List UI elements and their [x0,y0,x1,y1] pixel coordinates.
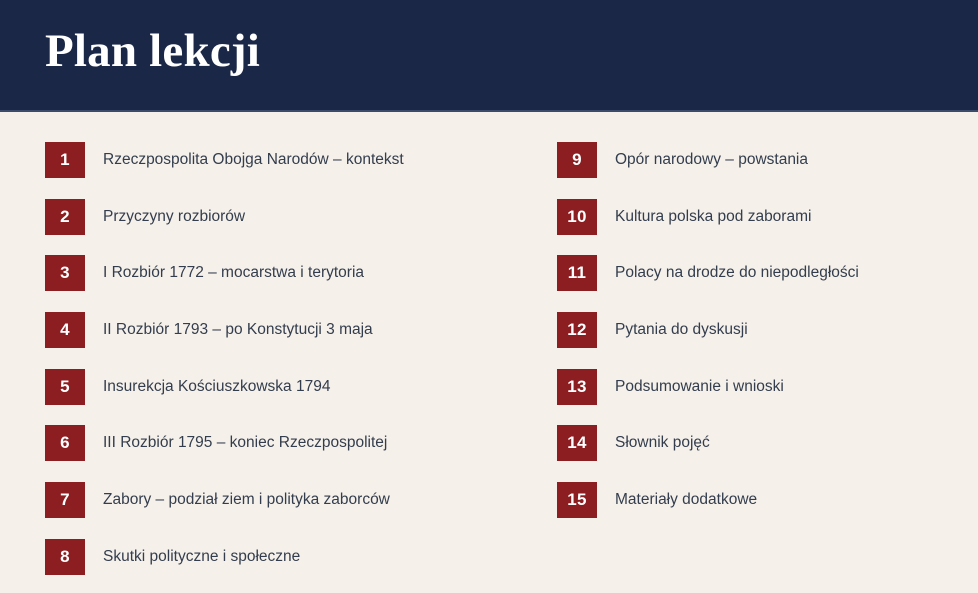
page-title: Plan lekcji [45,20,260,82]
agenda-item[interactable]: 13Podsumowanie i wnioski [557,339,957,396]
agenda-item[interactable]: 2Przyczyny rozbiorów [45,169,515,226]
agenda-item[interactable]: 4II Rozbiór 1793 – po Konstytucji 3 maja [45,282,515,339]
agenda-item[interactable]: 9Opór narodowy – powstania [557,112,957,169]
agenda-item[interactable]: 12Pytania do dyskusji [557,282,957,339]
agenda-item[interactable]: 15Materiały dodatkowe [557,452,957,509]
lesson-plan-slide: Plan lekcji 1Rzeczpospolita Obojga Narod… [0,0,978,593]
agenda-column-left: 1Rzeczpospolita Obojga Narodów – konteks… [45,112,515,566]
agenda-item[interactable]: 7Zabory – podział ziem i polityka zaborc… [45,452,515,509]
agenda-item[interactable]: 6III Rozbiór 1795 – koniec Rzeczpospolit… [45,395,515,452]
agenda-item-number-badge: 15 [557,482,597,518]
slide-header: Plan lekcji [0,0,978,112]
agenda-item[interactable]: 14Słownik pojęć [557,395,957,452]
agenda-column-right: 9Opór narodowy – powstania10Kultura pols… [557,112,957,509]
agenda-list: 1Rzeczpospolita Obojga Narodów – konteks… [0,112,978,593]
agenda-item-label: Materiały dodatkowe [597,482,957,518]
agenda-item-number-badge: 8 [45,539,85,575]
agenda-item[interactable]: 5Insurekcja Kościuszkowska 1794 [45,339,515,396]
agenda-item[interactable]: 3I Rozbiór 1772 – mocarstwa i terytoria [45,225,515,282]
agenda-item-label: Skutki polityczne i społeczne [85,539,515,575]
agenda-item[interactable]: 10Kultura polska pod zaborami [557,169,957,226]
agenda-item[interactable]: 11Polacy na drodze do niepodległości [557,225,957,282]
agenda-item[interactable]: 1Rzeczpospolita Obojga Narodów – konteks… [45,112,515,169]
agenda-item[interactable]: 8Skutki polityczne i społeczne [45,509,515,566]
